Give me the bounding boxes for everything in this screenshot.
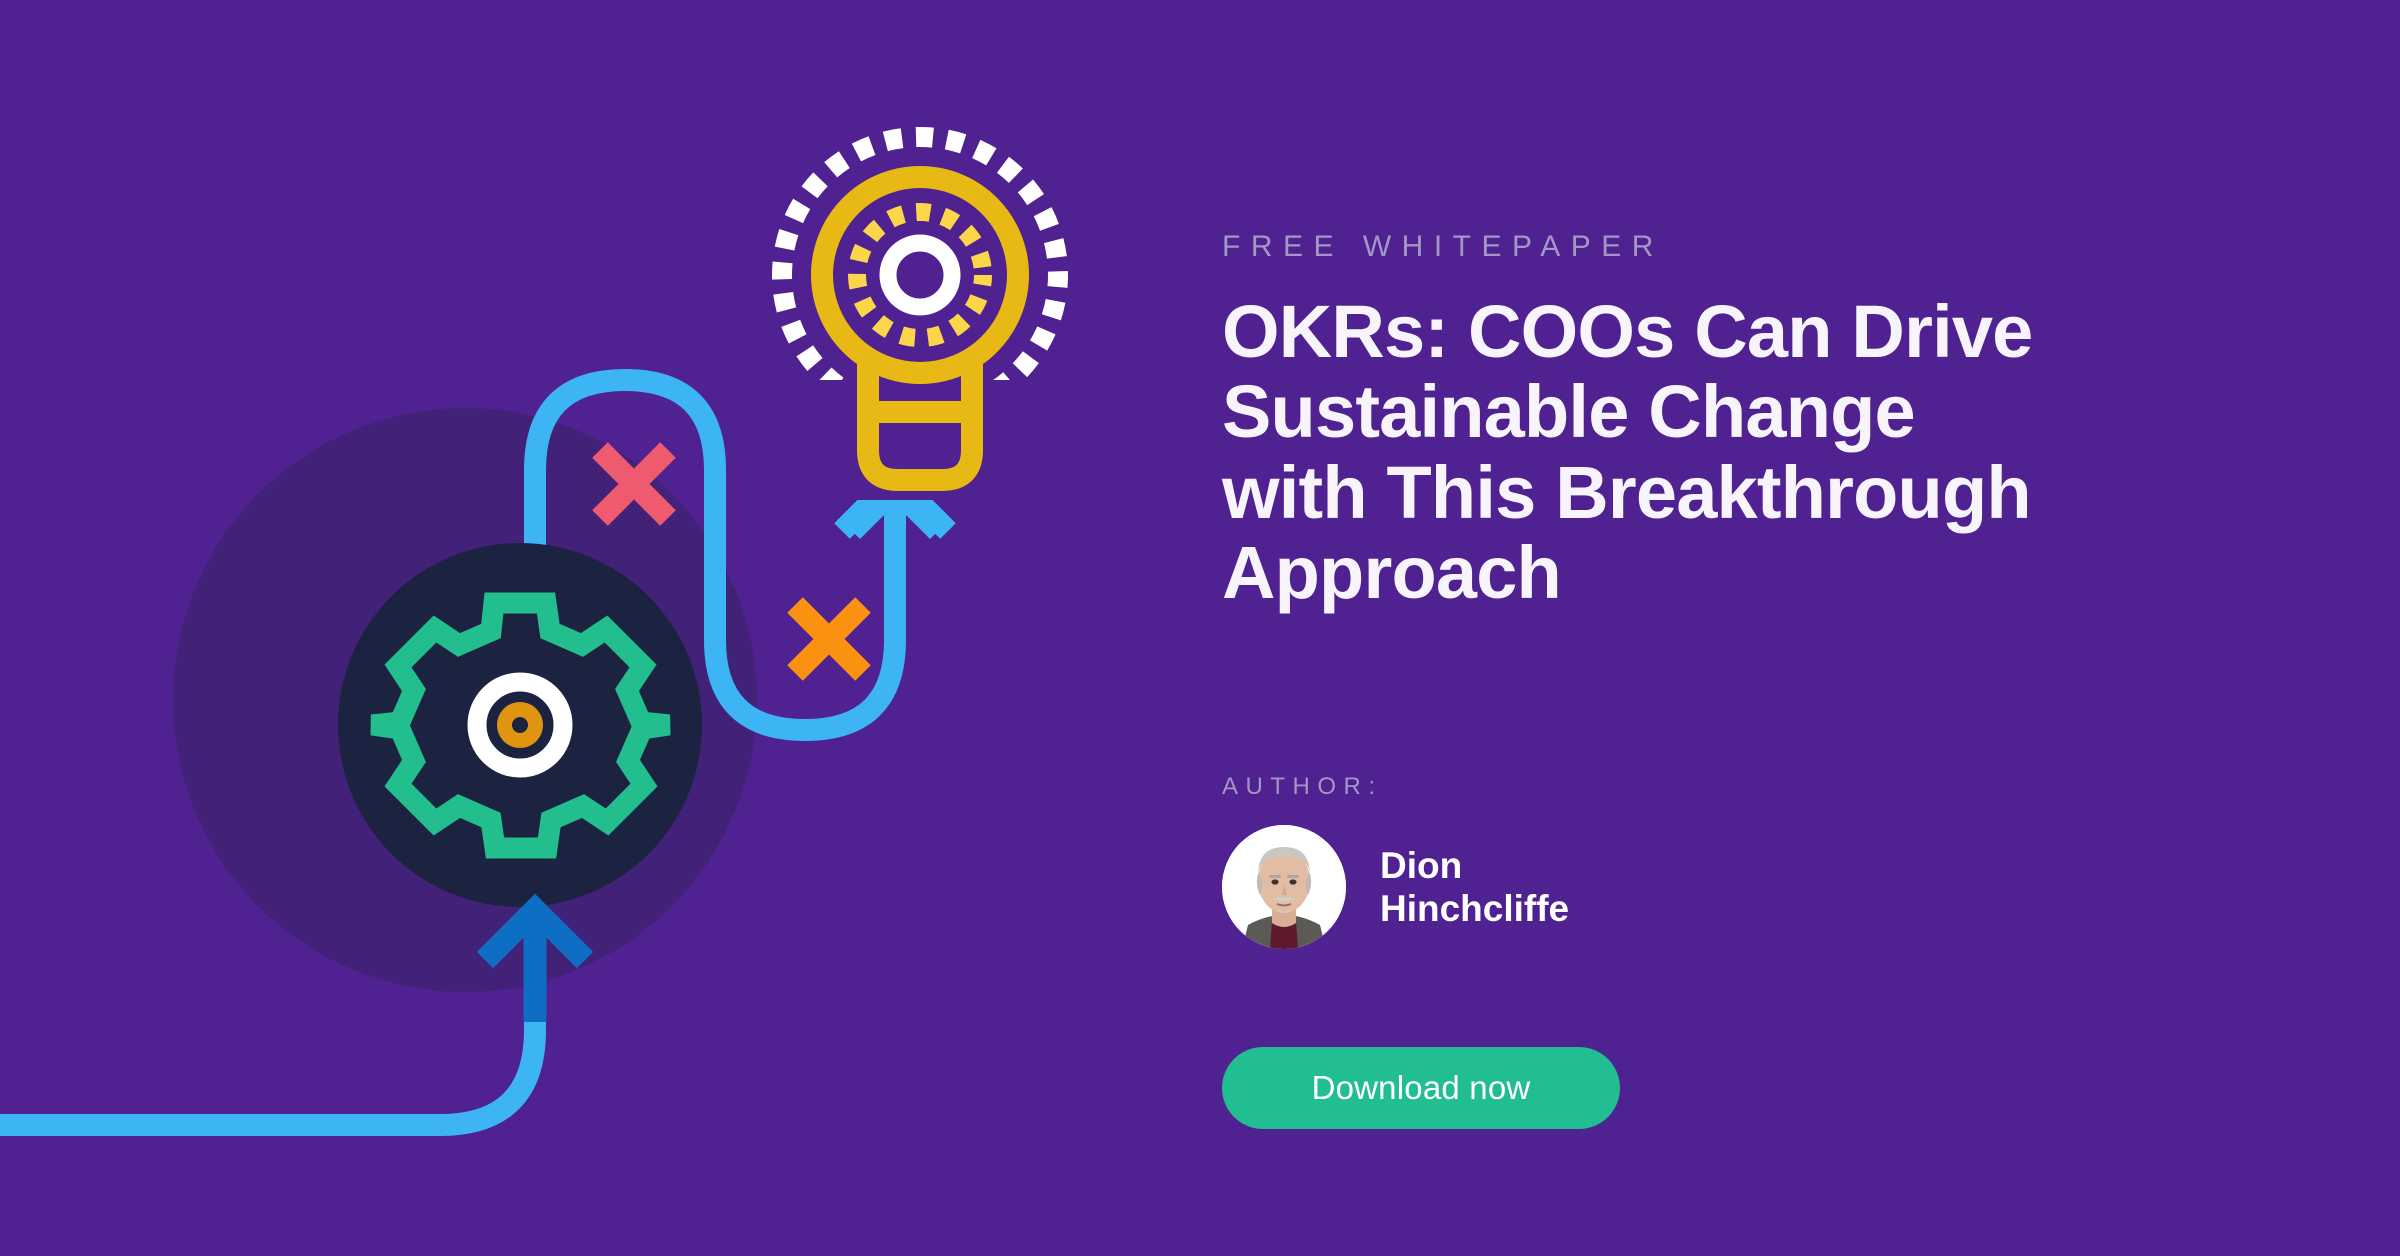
headline-line-3: with This Breakthrough — [1222, 453, 2282, 533]
author-block: Dion Hinchcliffe — [1222, 825, 1569, 949]
download-now-button[interactable]: Download now — [1222, 1047, 1620, 1129]
lightbulb-icon — [750, 137, 1090, 500]
bulb-inner-sparkle-ring — [857, 212, 983, 338]
content-column: FREE WHITEPAPER OKRs: COOs Can Drive Sus… — [1222, 0, 2322, 1256]
x-mark-orange — [795, 605, 863, 673]
headline-line-1: OKRs: COOs Can Drive — [1222, 292, 2282, 372]
avatar — [1222, 825, 1346, 949]
author-name: Dion Hinchcliffe — [1380, 844, 1569, 931]
whitepaper-promo-banner: FREE WHITEPAPER OKRs: COOs Can Drive Sus… — [0, 0, 2400, 1256]
eyebrow-label: FREE WHITEPAPER — [1222, 232, 1664, 262]
bulb-filament-ring — [888, 243, 952, 307]
gear-hub-hole — [512, 717, 528, 733]
headline-line-2: Sustainable Change — [1222, 372, 2282, 452]
author-label: AUTHOR: — [1222, 775, 1383, 799]
headline-line-4: Approach — [1222, 533, 2282, 613]
hero-illustration — [0, 0, 1180, 1256]
page-title: OKRs: COOs Can Drive Sustainable Change … — [1222, 292, 2282, 613]
author-last-name: Hinchcliffe — [1380, 887, 1569, 930]
author-first-name: Dion — [1380, 844, 1569, 887]
